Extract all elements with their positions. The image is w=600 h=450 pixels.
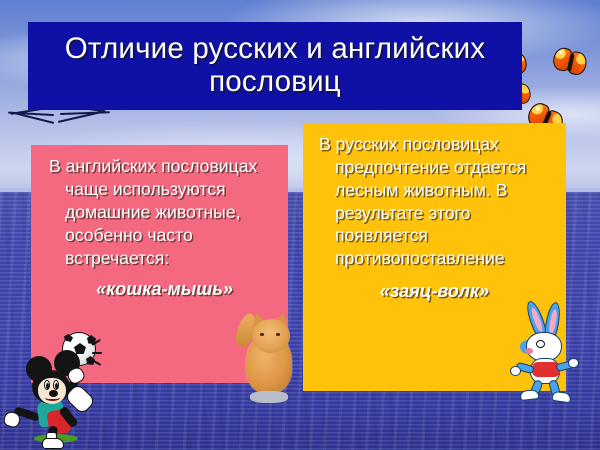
- english-proverbs-body: В английских пословицах чаще используютс…: [39, 155, 280, 270]
- russian-proverbs-body: В русских пословицах предпочтение отдает…: [311, 133, 558, 270]
- rabbit-image: [512, 300, 590, 408]
- presentation-slide: Отличие русских и английских пословиц В …: [0, 0, 600, 450]
- page-title: Отличие русских и английских пословиц: [34, 32, 516, 98]
- mickey-mouse-image: [8, 348, 118, 448]
- kitten-image: [238, 307, 302, 405]
- english-proverbs-quote: «кошка-мышь»: [39, 278, 280, 302]
- title-banner: Отличие русских и английских пословиц: [28, 22, 522, 110]
